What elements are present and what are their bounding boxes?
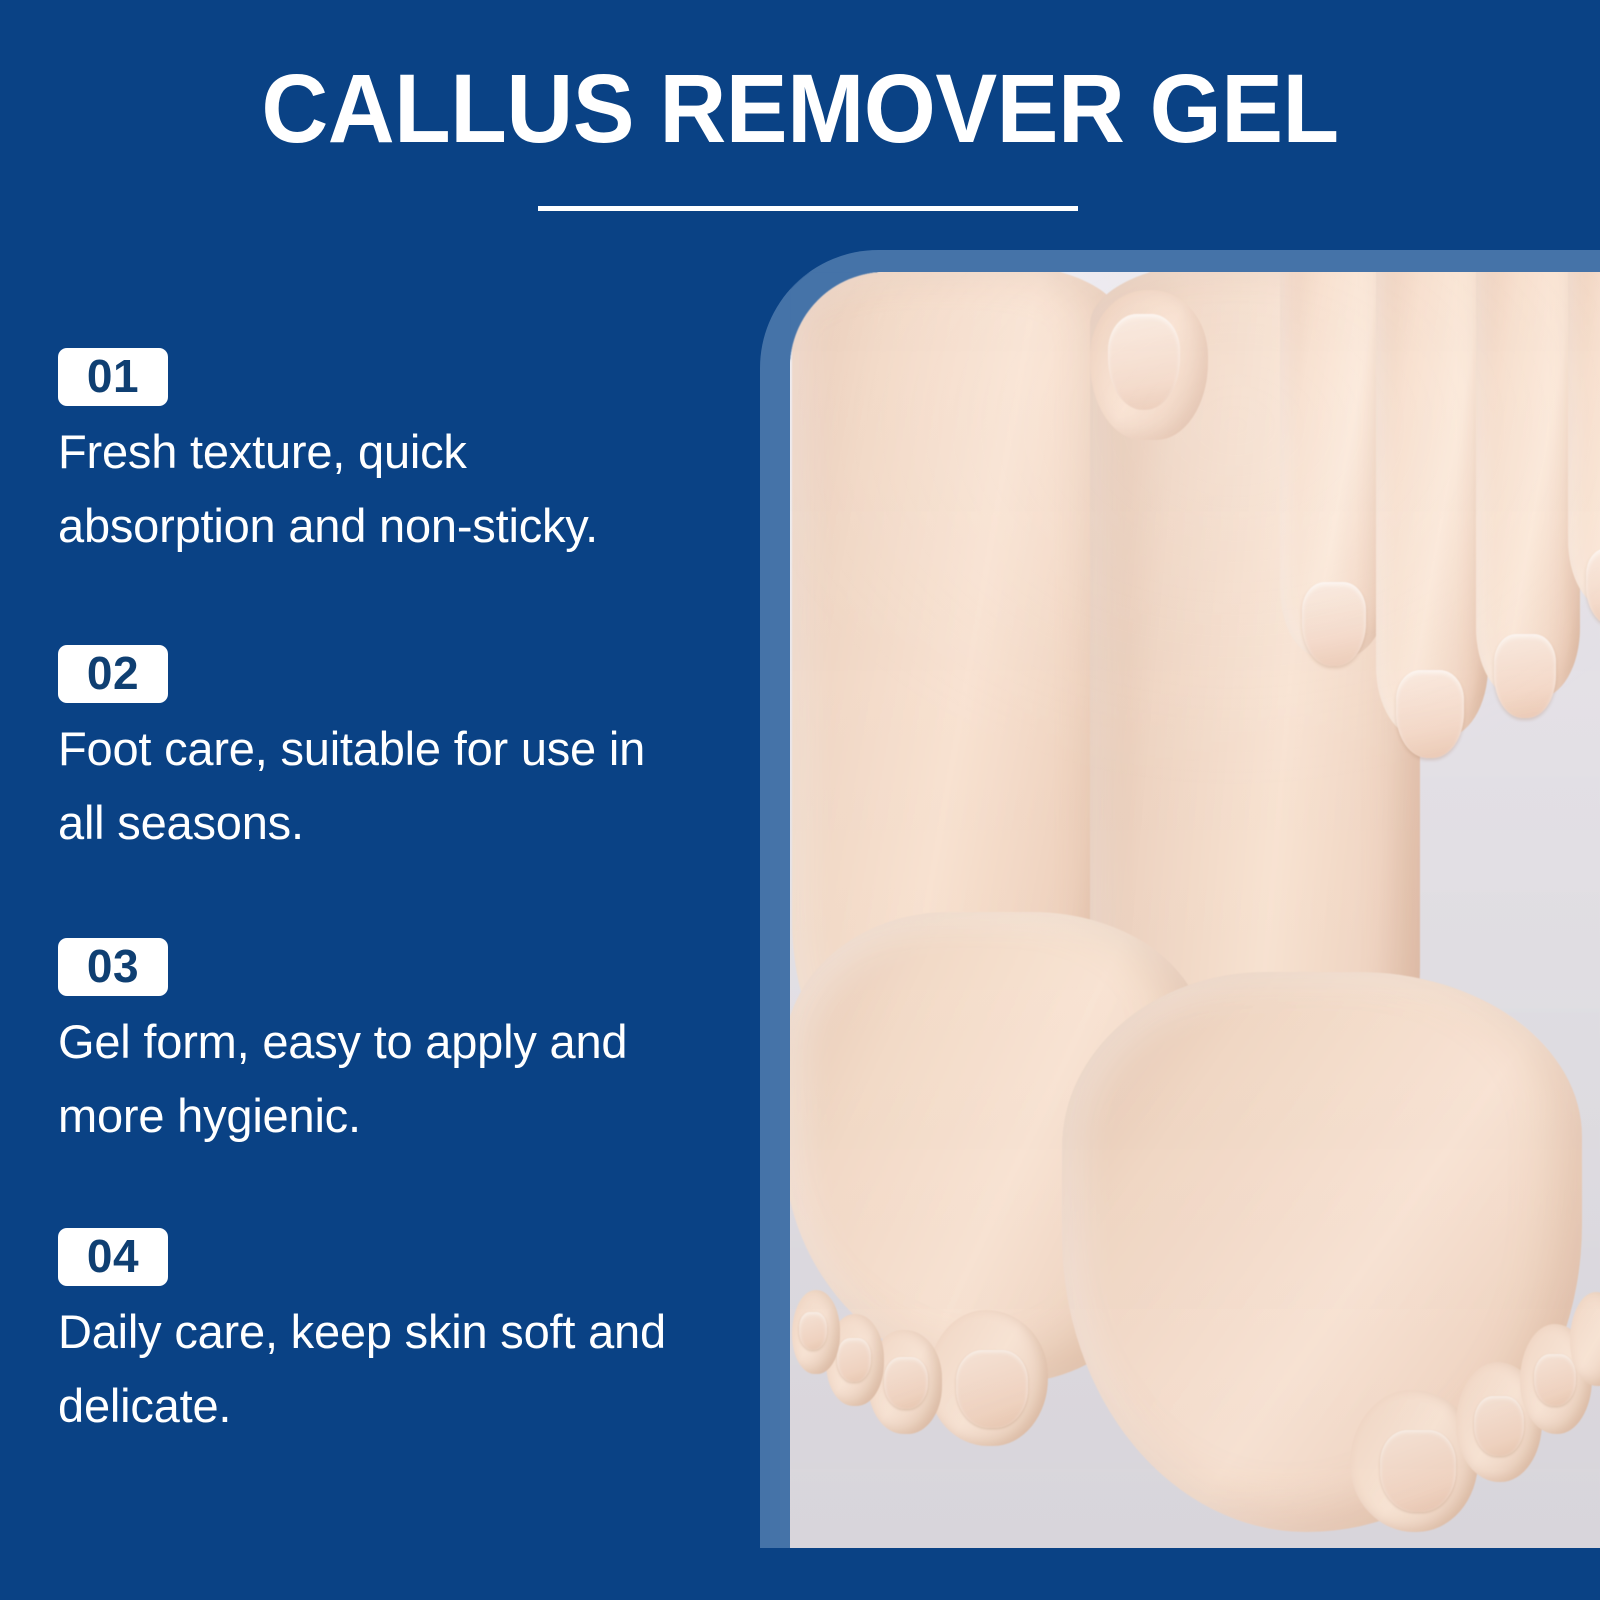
page-title: CALLUS REMOVER GEL [36,60,1564,159]
title-divider [538,206,1078,211]
feature-number-badge-04: 04 [58,1228,168,1286]
feature-item-03: 03 Gel form, easy to apply and more hygi… [58,938,738,1153]
feature-number-badge-02: 02 [58,645,168,703]
left-foot-toenail-4 [799,1312,827,1350]
left-foot-toenail-2 [884,1357,928,1409]
middle-finger [1376,272,1488,738]
product-infographic-poster: CALLUS REMOVER GEL [0,0,1600,1600]
feature-item-01: 01 Fresh texture, quick absorption and n… [58,348,738,563]
hand [1268,272,1600,952]
feature-text-02: Foot care, suitable for use in all seaso… [58,712,738,860]
index-fingernail [1302,582,1366,666]
right-foot-toenail-3 [1534,1354,1576,1406]
right-foot-big-toenail [1380,1430,1456,1512]
thumbnail-nail [1108,314,1180,410]
feature-number-badge-03: 03 [58,938,168,996]
feature-item-04: 04 Daily care, keep skin soft and delica… [58,1228,738,1443]
left-foot-big-toenail [956,1350,1028,1428]
feature-text-03: Gel form, easy to apply and more hygieni… [58,1005,738,1153]
feature-item-02: 02 Foot care, suitable for use in all se… [58,645,738,860]
photo-frame [760,250,1600,1548]
feature-text-01: Fresh texture, quick absorption and non-… [58,415,738,563]
feature-list: 01 Fresh texture, quick absorption and n… [0,0,760,1600]
little-fingernail [1586,548,1600,626]
right-foot-toenail-2 [1474,1396,1524,1456]
feature-text-04: Daily care, keep skin soft and delicate. [58,1295,738,1443]
feature-number-badge-01: 01 [58,348,168,406]
poster-header: CALLUS REMOVER GEL [0,0,1600,240]
left-foot-toenail-3 [837,1338,871,1382]
ring-fingernail [1494,634,1556,718]
middle-fingernail [1396,670,1464,758]
product-photo [790,272,1600,1548]
